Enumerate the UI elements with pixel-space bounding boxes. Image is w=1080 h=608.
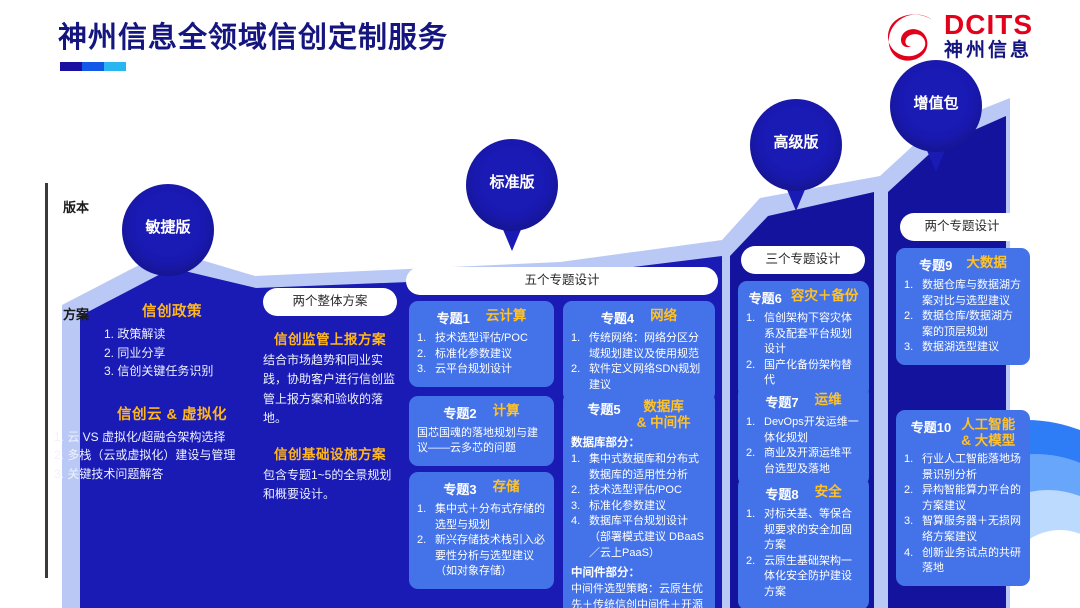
overall-pill-header: 两个整体方案 (263, 288, 397, 316)
topic-2-num: 专题2 (443, 403, 476, 422)
topic-2-text: 国芯国魂的落地规划与建议——云多芯的问题 (417, 426, 546, 457)
slide-canvas: 神州信息全领域信创定制服务 DCITS 神州信息 版本 方案 敏捷版 标准版 高… (0, 0, 1080, 608)
topic-8-tag: 安全 (815, 484, 842, 500)
pin-label-agile: 敏捷版 (122, 216, 214, 237)
column-agile: 信创政策 1. 政策解读 2. 同业分享 3. 信创关键任务识别 信创云 & 虚… (88, 300, 256, 484)
overall-section-1-title: 信创监管上报方案 (263, 328, 397, 348)
logo-cn-text: 神州信息 (944, 40, 1033, 62)
pin-label-addon: 增值包 (890, 92, 982, 113)
axis-label-version: 版本 (63, 197, 89, 216)
topic-3-tag: 存储 (493, 479, 520, 495)
topic-5-num: 专题5 (587, 399, 620, 418)
topic-7-num: 专题7 (765, 392, 798, 411)
list-item: 2.商业及开源运维平台选型及落地 (746, 446, 861, 477)
topic-10-num: 专题10 (911, 417, 951, 436)
topic-5-tag: 数据库 & 中间件 (637, 399, 691, 430)
pin-label-advanced: 高级版 (750, 131, 842, 152)
topic-8-list: 1.对标关基、等保合规要求的安全加固方案 2.云原生基础架构一体化安全防护建设方… (746, 507, 861, 601)
agile-section-1-list: 1. 政策解读 2. 同业分享 3. 信创关键任务识别 (88, 325, 256, 381)
list-item: 1.对标关基、等保合规要求的安全加固方案 (746, 507, 861, 554)
dcits-swirl-icon (882, 8, 944, 68)
standard-pill-wrapper: 五个专题设计 (406, 267, 718, 295)
title-underline-rule (60, 62, 126, 71)
topic-1-list: 1.技术选型评估/POC 2.标准化参数建议 3.云平台规划设计 (417, 331, 546, 378)
list-item: 2.技术选型评估/POC (571, 483, 707, 499)
list-item: 2. 多栈（云或虚拟化）建设与管理 (54, 446, 256, 465)
list-item: 1.DevOps开发运维一体化规划 (746, 415, 861, 446)
topic-1-num: 专题1 (437, 308, 470, 327)
list-item: 2.标准化参数建议 (417, 347, 546, 363)
list-item: 1. 云 VS 虚拟化/超融合架构选择 (54, 428, 256, 447)
list-item: 1.技术选型评估/POC (417, 331, 546, 347)
list-item: 1.行业人工智能落地场景识别分析 (904, 452, 1022, 483)
topic-4-num: 专题4 (601, 308, 634, 327)
list-item: 2.新兴存储技术栈引入必要性分析与选型建议（如对象存储） (417, 533, 546, 580)
topic-5-mw-text: 中间件选型策略：云原生优先＋传统信创中间件＋开源管理 (571, 582, 707, 608)
topic-card-1[interactable]: 专题1 云计算 1.技术选型评估/POC 2.标准化参数建议 3.云平台规划设计 (409, 301, 554, 387)
list-item: 3.数据湖选型建议 (904, 340, 1022, 356)
topic-card-2[interactable]: 专题2 计算 国芯国魂的落地规划与建议——云多芯的问题 (409, 396, 554, 466)
topic-card-10[interactable]: 专题10 人工智能 & 大模型 1.行业人工智能落地场景识别分析 2.异构智能算… (896, 410, 1030, 586)
list-item: 2.异构智能算力平台的方案建议 (904, 483, 1022, 514)
list-item: 2. 同业分享 (104, 344, 256, 363)
list-item: 1.数据仓库与数据湖方案对比与选型建议 (904, 278, 1022, 309)
list-item: 4.创新业务试点的共研落地 (904, 546, 1022, 577)
topic-card-8[interactable]: 专题8 安全 1.对标关基、等保合规要求的安全加固方案 2.云原生基础架构一体化… (738, 477, 869, 608)
addon-pill-header: 两个专题设计 (900, 213, 1024, 241)
topic-10-list: 1.行业人工智能落地场景识别分析 2.异构智能算力平台的方案建议 3.智算服务器… (904, 452, 1022, 577)
topic-card-6[interactable]: 专题6 容灾＋备份 1.信创架构下容灾体系及配套平台规划设计 2.国产化备份架构… (738, 281, 869, 398)
logo-wordmark: DCITS 神州信息 (944, 10, 1033, 62)
page-title: 神州信息全领域信创定制服务 (58, 14, 448, 56)
list-item: 4.数据库平台规划设计（部署模式建议 DBaaS／云上PaaS） (571, 514, 707, 561)
overall-section-1-text: 结合市场趋势和同业实践，协助客户进行信创监管上报方案和验收的落地。 (263, 351, 397, 429)
topic-5-subhead-mw: 中间件部分： (571, 564, 707, 580)
agile-section-2-list: 1. 云 VS 虚拟化/超融合架构选择 2. 多栈（云或虚拟化）建设与管理 3.… (54, 428, 256, 484)
agile-section-2-title: 信创云 & 虚拟化 (88, 403, 256, 424)
topic-2-tag: 计算 (493, 403, 520, 419)
list-item: 3.云平台规划设计 (417, 362, 546, 378)
topic-6-num: 专题6 (749, 288, 782, 307)
standard-pill-header: 五个专题设计 (406, 267, 718, 295)
column-overall: 两个整体方案 信创监管上报方案 结合市场趋势和同业实践，协助客户进行信创监管上报… (263, 288, 397, 504)
list-item: 3.智算服务器＋无损网络方案建议 (904, 514, 1022, 545)
topic-4-list: 1.传统网络：网络分区分域规划建议及使用规范 2.软件定义网络SDN规划建议 (571, 331, 707, 393)
advanced-pill-wrapper: 三个专题设计 (741, 246, 865, 274)
topic-10-tag: 人工智能 & 大模型 (961, 417, 1015, 448)
list-item: 2.数据仓库/数据湖方案的顶层规划 (904, 309, 1022, 340)
pin-marker-agile[interactable]: 敏捷版 (122, 184, 214, 296)
pin-marker-standard[interactable]: 标准版 (466, 139, 558, 251)
list-item: 1.信创架构下容灾体系及配套平台规划设计 (746, 311, 861, 358)
list-item: 1. 政策解读 (104, 325, 256, 344)
topic-5-subhead-db: 数据库部分： (571, 434, 707, 450)
topic-1-tag: 云计算 (486, 308, 527, 324)
topic-3-list: 1.集中式＋分布式存储的选型与规划 2.新兴存储技术栈引入必要性分析与选型建议（… (417, 502, 546, 580)
topic-card-4[interactable]: 专题4 网络 1.传统网络：网络分区分域规划建议及使用规范 2.软件定义网络SD… (563, 301, 715, 402)
overall-section-2-title: 信创基础设施方案 (263, 443, 397, 463)
axis-label-solution: 方案 (63, 304, 89, 323)
topic-9-list: 1.数据仓库与数据湖方案对比与选型建议 2.数据仓库/数据湖方案的顶层规划 3.… (904, 278, 1022, 356)
pin-marker-advanced[interactable]: 高级版 (750, 99, 842, 211)
topic-card-3[interactable]: 专题3 存储 1.集中式＋分布式存储的选型与规划 2.新兴存储技术栈引入必要性分… (409, 472, 554, 589)
vertical-axis-line (45, 183, 48, 578)
list-item: 1.集中式数据库和分布式数据库的适用性分析 (571, 452, 707, 483)
list-item: 2.云原生基础架构一体化安全防护建设方案 (746, 554, 861, 601)
topic-6-tag: 容灾＋备份 (791, 288, 859, 304)
list-item: 1.集中式＋分布式存储的选型与规划 (417, 502, 546, 533)
agile-section-1-title: 信创政策 (88, 300, 256, 321)
list-item: 1.传统网络：网络分区分域规划建议及使用规范 (571, 331, 707, 362)
list-item: 3. 信创关键任务识别 (104, 362, 256, 381)
topic-7-list: 1.DevOps开发运维一体化规划 2.商业及开源运维平台选型及落地 (746, 415, 861, 477)
list-item: 2.软件定义网络SDN规划建议 (571, 362, 707, 393)
logo-en-text: DCITS (944, 10, 1033, 40)
topic-4-tag: 网络 (650, 308, 677, 324)
topic-6-list: 1.信创架构下容灾体系及配套平台规划设计 2.国产化备份架构替代 (746, 311, 861, 389)
advanced-pill-header: 三个专题设计 (741, 246, 865, 274)
pin-label-standard: 标准版 (466, 171, 558, 192)
addon-pill-wrapper: 两个专题设计 (900, 213, 1024, 241)
list-item: 3. 关键技术问题解答 (54, 465, 256, 484)
list-item: 3.标准化参数建议 (571, 499, 707, 515)
topic-card-7[interactable]: 专题7 运维 1.DevOps开发运维一体化规划 2.商业及开源运维平台选型及落… (738, 385, 869, 486)
pin-marker-addon[interactable]: 增值包 (890, 60, 982, 172)
topic-card-5[interactable]: 专题5 数据库 & 中间件 数据库部分： 1.集中式数据库和分布式数据库的适用性… (563, 392, 715, 608)
topic-card-9[interactable]: 专题9 大数据 1.数据仓库与数据湖方案对比与选型建议 2.数据仓库/数据湖方案… (896, 248, 1030, 365)
overall-section-2-text: 包含专题1~5的全景规划和概要设计。 (263, 466, 397, 505)
topic-8-num: 专题8 (765, 484, 798, 503)
topic-5-list: 1.集中式数据库和分布式数据库的适用性分析 2.技术选型评估/POC 3.标准化… (571, 452, 707, 561)
topic-9-tag: 大数据 (966, 255, 1007, 271)
topic-9-num: 专题9 (919, 255, 952, 274)
topic-3-num: 专题3 (443, 479, 476, 498)
topic-7-tag: 运维 (815, 392, 842, 408)
